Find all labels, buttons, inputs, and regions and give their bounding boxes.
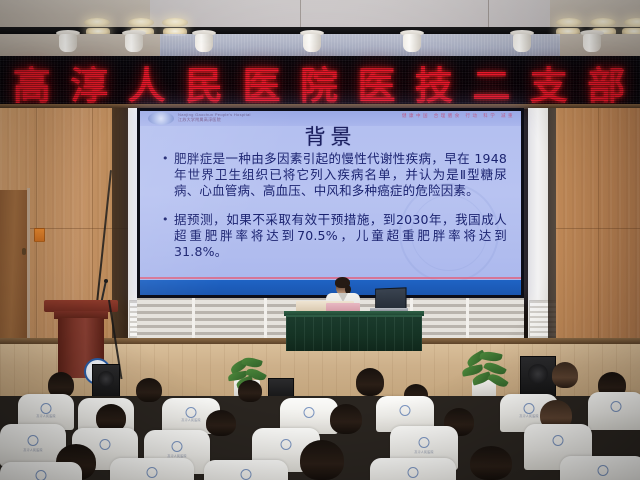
panel-divider	[264, 298, 267, 342]
audience-chair[interactable]: 高淳人民医院	[370, 458, 456, 480]
microphone-head-icon	[104, 279, 108, 283]
audience-head	[552, 362, 578, 388]
presenter-table-skirt	[286, 315, 422, 351]
audience-chair[interactable]	[0, 462, 82, 480]
chair-logo-text: 高淳人民医院	[181, 418, 200, 422]
audience-chair[interactable]	[204, 460, 288, 480]
skirt-folds	[286, 317, 422, 351]
audience-head	[300, 440, 344, 480]
chair-logo-icon	[281, 439, 292, 450]
chair-logo-text: 高淳人民医院	[519, 414, 538, 418]
ceiling-speaker-icon	[56, 30, 80, 54]
ceiling-speaker-icon	[580, 30, 604, 54]
audience-head	[206, 410, 236, 436]
ceiling-downlight-icon	[84, 18, 110, 27]
audience-chair[interactable]	[560, 456, 640, 480]
audience-head	[136, 378, 162, 402]
chair-logo-icon	[28, 435, 39, 446]
chair-logo-text: 高淳人民医院	[36, 414, 55, 418]
chair-logo-icon	[172, 441, 183, 452]
chair-logo-icon	[611, 401, 622, 412]
chair-logo-icon	[408, 467, 419, 478]
ceiling-downlight-icon	[162, 18, 188, 27]
audience-chair[interactable]	[588, 392, 640, 430]
ceiling-speaker-icon	[300, 30, 324, 54]
floor-speaker-right	[520, 356, 556, 396]
wall-outlet-icon	[34, 228, 45, 242]
door-handle-icon[interactable]	[22, 248, 26, 255]
audience-head	[356, 368, 384, 396]
plant-leaf	[479, 350, 502, 363]
ceiling-speaker-icon	[400, 30, 424, 54]
panel-divider	[466, 298, 469, 342]
audience-head	[238, 380, 262, 402]
chair-logo-icon	[524, 403, 535, 414]
chair-logo-icon	[598, 465, 609, 476]
chair-logo-icon	[186, 407, 197, 418]
led-banner: 高 淳 人 民 医 院 医 技 二 支 部	[0, 56, 640, 106]
chair-logo-icon	[41, 403, 52, 414]
chair-logo-text: 高淳人民医院	[23, 448, 42, 452]
audience-chair[interactable]: 高淳人民医院	[110, 458, 194, 480]
chair-logo-icon	[147, 467, 158, 478]
potted-plant-right	[462, 352, 508, 400]
screen-glare	[140, 111, 521, 295]
chair-logo-icon	[419, 437, 430, 448]
chair-logo-icon	[36, 470, 47, 480]
chair-logo-icon	[400, 405, 411, 416]
chair-logo-icon	[100, 439, 111, 450]
chair-logo-icon	[241, 469, 252, 480]
audience-head	[330, 404, 362, 434]
ceiling-downlight-icon	[590, 18, 616, 27]
panel-divider	[192, 298, 195, 342]
ceiling-downlight-icon	[556, 18, 582, 27]
ceiling-speaker-icon	[510, 30, 534, 54]
led-scanlines	[0, 56, 640, 106]
auditorium-photo: 高 淳 人 民 医 院 医 技 二 支 部	[0, 0, 640, 480]
audience-head	[470, 446, 512, 480]
floor-speaker-left	[92, 364, 120, 398]
chair-logo-icon	[553, 435, 564, 446]
chair-logo-text: 高淳人民医院	[414, 450, 433, 454]
chair-logo-icon	[304, 407, 315, 418]
ceiling-speaker-icon	[122, 30, 146, 54]
ceiling-downlight-icon	[128, 18, 154, 27]
ceiling-speaker-icon	[192, 30, 216, 54]
projection-screen: Nanjing Gaochun People's Hospital 江苏大学附属…	[140, 111, 521, 295]
